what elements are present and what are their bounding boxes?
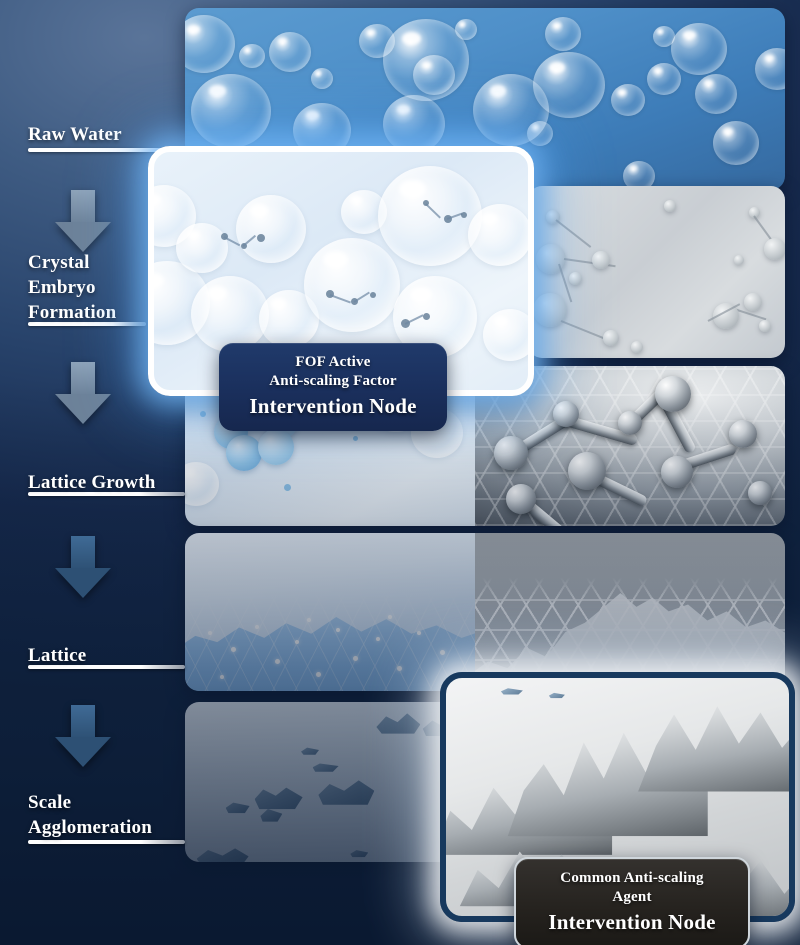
sparkle-dot bbox=[353, 436, 358, 441]
arrow-head bbox=[55, 394, 111, 424]
molecule-node bbox=[603, 330, 619, 346]
sparkle-dot bbox=[397, 666, 402, 671]
bubble bbox=[483, 309, 534, 361]
molecule-bond bbox=[556, 219, 592, 248]
bubble bbox=[533, 52, 605, 118]
arrow-shaft bbox=[71, 705, 95, 739]
molecule-node bbox=[764, 238, 785, 260]
arrow-shaft bbox=[71, 190, 95, 224]
sparkle-dot bbox=[220, 675, 224, 679]
metal-node bbox=[655, 376, 691, 412]
bubble bbox=[545, 17, 581, 51]
molecule-node bbox=[569, 272, 582, 285]
badge-line-3: Intervention Node bbox=[239, 393, 427, 419]
scale-deposit bbox=[638, 688, 795, 792]
scale-fragment bbox=[318, 779, 374, 805]
stage-label-text: Lattice bbox=[28, 645, 86, 666]
scale-fragment bbox=[226, 801, 250, 813]
scale-fragment bbox=[549, 692, 565, 698]
flow-arrow-1 bbox=[55, 190, 111, 252]
arrow-shaft bbox=[71, 536, 95, 570]
molecule-node bbox=[631, 341, 643, 353]
bubble bbox=[671, 23, 727, 75]
stage-label-line-3: Formation bbox=[28, 300, 116, 325]
mesh-texture bbox=[185, 533, 475, 691]
molecule-node bbox=[664, 200, 676, 212]
bubble bbox=[468, 204, 532, 266]
molecule-bond bbox=[561, 320, 604, 339]
badge-line-1: FOF Active bbox=[239, 353, 427, 372]
bubble bbox=[191, 276, 269, 352]
stage-label-line-1: Crystal bbox=[28, 250, 116, 275]
stage-label-text: Lattice Growth bbox=[28, 472, 156, 493]
flow-arrow-4 bbox=[55, 705, 111, 767]
stage-label-line-2: Agglomeration bbox=[28, 815, 152, 840]
scale-fragment bbox=[313, 763, 339, 772]
stage-label-lattice: Lattice bbox=[28, 643, 86, 668]
badge-line-2: Anti-scaling Factor bbox=[239, 372, 427, 391]
scale-fragment bbox=[197, 846, 249, 862]
lattice-panel bbox=[185, 533, 785, 691]
scale-fragment bbox=[376, 712, 420, 734]
stage-label-line-1: Scale bbox=[28, 790, 152, 815]
badge-line-3: Intervention Node bbox=[536, 909, 728, 935]
wireframe-texture bbox=[475, 533, 785, 691]
molecule-node bbox=[744, 293, 762, 311]
stage-label-lattice-growth: Lattice Growth bbox=[28, 470, 156, 495]
flow-arrow-3 bbox=[55, 536, 111, 598]
fof-active-intervention-badge[interactable]: FOF Active Anti-scaling Factor Intervent… bbox=[219, 343, 447, 431]
bubble bbox=[713, 121, 759, 165]
stage-label-scale-agglomeration: Scale Agglomeration bbox=[28, 790, 152, 840]
scale-fragment bbox=[301, 747, 319, 755]
lattice-left-half bbox=[185, 533, 475, 691]
badge-line-2: Agent bbox=[536, 888, 728, 907]
crystal-embryo-right-panel bbox=[528, 186, 785, 358]
metal-node bbox=[618, 411, 642, 435]
bubble bbox=[527, 121, 553, 146]
stage-label-line-2: Embryo bbox=[28, 275, 116, 300]
bubble bbox=[378, 166, 482, 266]
badge-line-1: Common Anti-scaling bbox=[536, 869, 728, 888]
sparkle-dot bbox=[417, 631, 421, 635]
flow-arrow-2 bbox=[55, 362, 111, 424]
bubble bbox=[311, 68, 333, 89]
bubble bbox=[269, 32, 311, 72]
sparkle-dot bbox=[284, 484, 291, 491]
lattice-right-half bbox=[475, 533, 785, 691]
arrow-head bbox=[55, 737, 111, 767]
scale-fragment bbox=[350, 849, 368, 857]
metal-node bbox=[748, 481, 772, 505]
bubble bbox=[647, 63, 681, 95]
stage-label-text: Raw Water bbox=[28, 124, 122, 145]
common-agent-intervention-badge[interactable]: Common Anti-scaling Agent Intervention N… bbox=[514, 857, 750, 945]
arrow-head bbox=[55, 222, 111, 252]
metal-node bbox=[661, 456, 693, 488]
bubble bbox=[695, 74, 737, 114]
scale-fragment bbox=[501, 688, 523, 695]
sparkle-dot bbox=[255, 625, 259, 629]
bubble bbox=[191, 74, 271, 148]
arrow-head bbox=[55, 568, 111, 598]
molecule-node bbox=[759, 320, 771, 332]
sparkle-dot bbox=[336, 628, 340, 632]
stage-label-crystal-embryo-formation: Crystal Embryo Formation bbox=[28, 250, 116, 325]
arrow-shaft bbox=[71, 362, 95, 396]
stage-rule-scale-agglomeration bbox=[28, 840, 185, 844]
bubble bbox=[185, 15, 235, 73]
sparkle-dot bbox=[316, 672, 321, 677]
bubble bbox=[611, 84, 645, 116]
bubble bbox=[236, 195, 306, 263]
bubble bbox=[455, 19, 477, 40]
sparkle-dot bbox=[200, 411, 206, 417]
bubble bbox=[176, 223, 228, 273]
scale-fragment bbox=[255, 785, 303, 809]
bubble bbox=[755, 48, 785, 90]
scale-fragment bbox=[260, 808, 282, 822]
bubble bbox=[383, 95, 445, 153]
diagram-canvas: Raw Water Crystal Embryo Formation Latti… bbox=[0, 0, 800, 945]
bubble bbox=[304, 238, 400, 332]
stage-label-raw-water: Raw Water bbox=[28, 122, 122, 147]
metal-node bbox=[494, 436, 528, 470]
molecule-node bbox=[734, 255, 744, 265]
scale-left-panel bbox=[185, 702, 475, 862]
metal-node bbox=[553, 401, 579, 427]
molecule-node bbox=[592, 251, 610, 269]
bubble bbox=[239, 44, 265, 68]
